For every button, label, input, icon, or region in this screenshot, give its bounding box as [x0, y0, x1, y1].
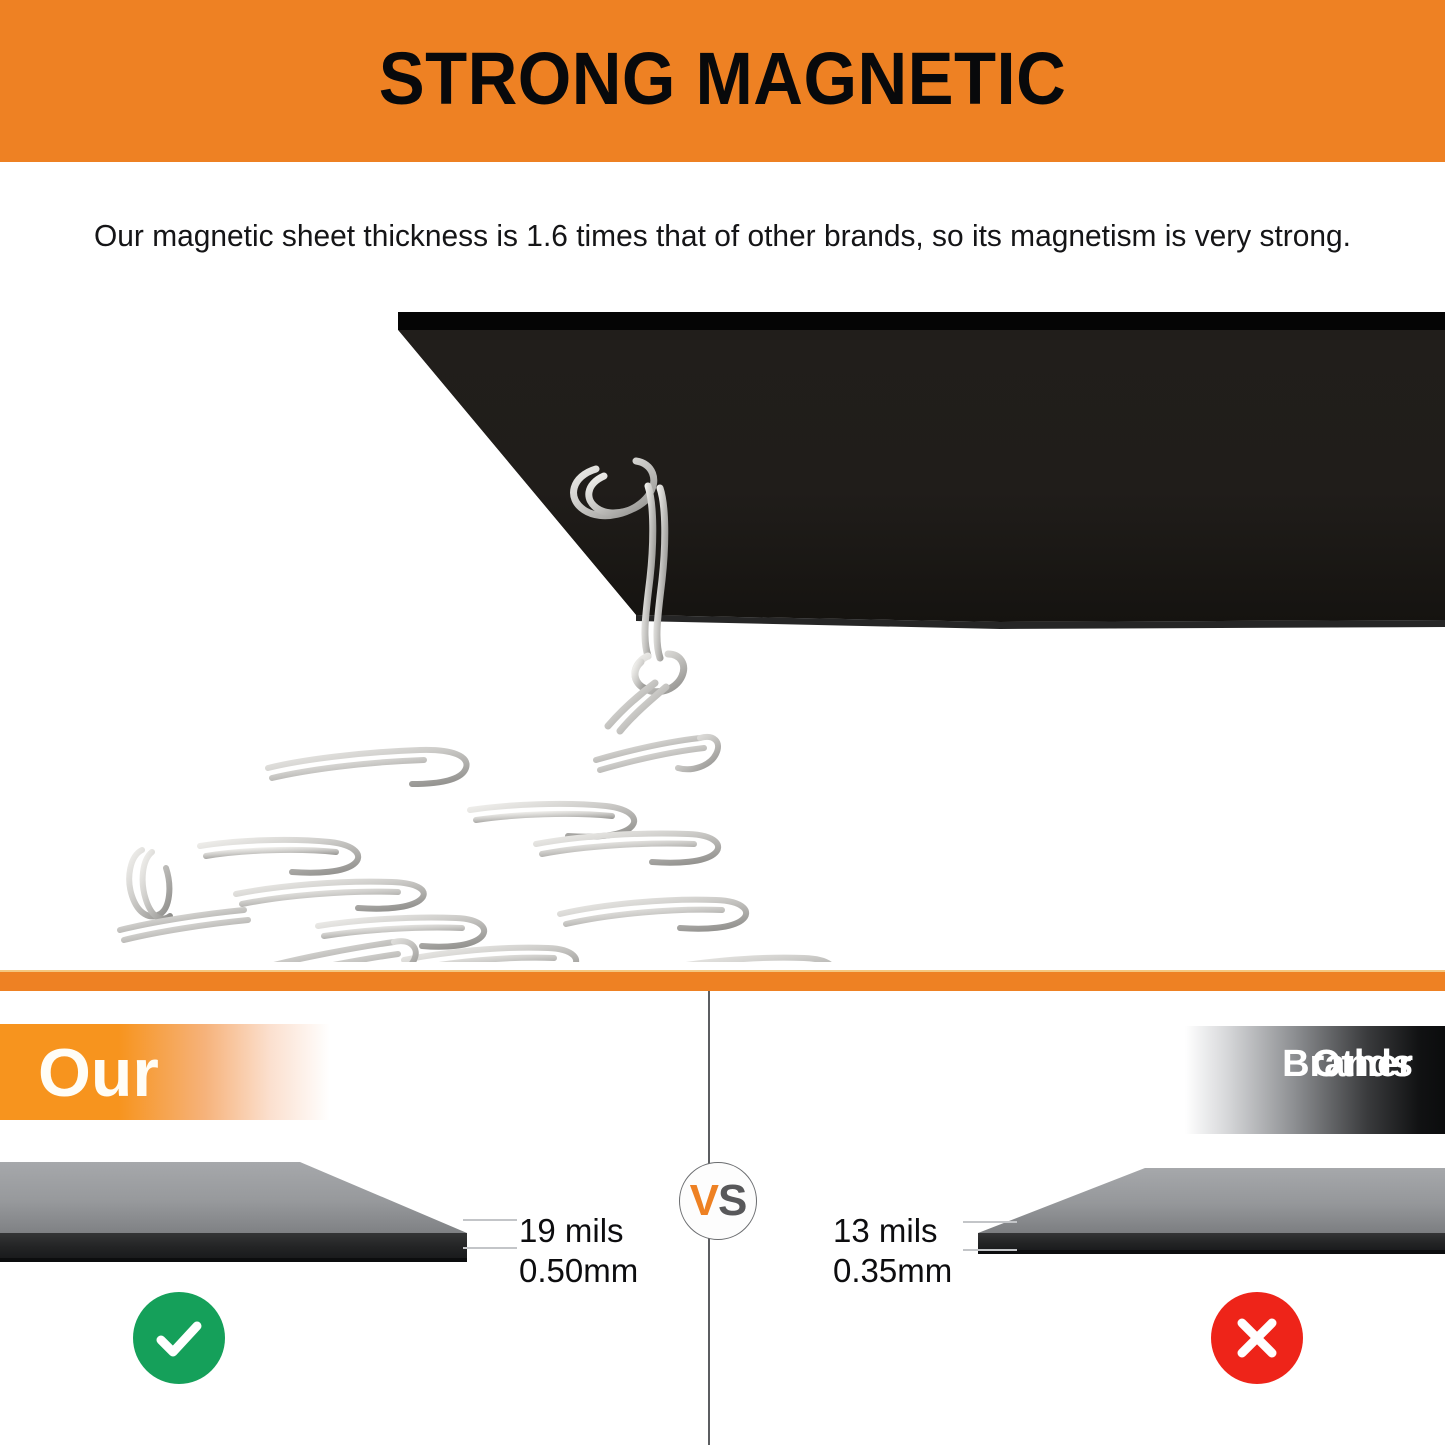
our-brand-ribbon: Our	[0, 1024, 330, 1120]
product-infographic: STRONG MAGNETIC Our magnetic sheet thick…	[0, 0, 1445, 1445]
paperclip-pile	[120, 737, 834, 962]
other-brands-label-line2: Brands	[1282, 1042, 1413, 1087]
hero-illustration	[0, 290, 1445, 962]
our-dimension-ticks	[463, 1213, 517, 1253]
other-thickness-mm: 0.35mm	[833, 1251, 952, 1291]
our-brand-label: Our	[38, 1037, 159, 1109]
our-sheet-thickness-illustration	[0, 1148, 482, 1273]
other-sheet-thickness-illustration	[978, 1154, 1445, 1274]
check-icon	[150, 1309, 208, 1367]
section-divider	[0, 972, 1445, 991]
rejected-badge	[1211, 1292, 1303, 1384]
our-thickness-mils: 19 mils	[519, 1211, 638, 1251]
header-banner: STRONG MAGNETIC	[0, 0, 1445, 162]
other-brands-ribbon: Other Brands	[1185, 1026, 1445, 1134]
our-thickness-mm: 0.50mm	[519, 1251, 638, 1291]
subtitle-text: Our magnetic sheet thickness is 1.6 time…	[25, 217, 1419, 255]
close-icon	[1231, 1312, 1283, 1364]
page-title: STRONG MAGNETIC	[51, 36, 1395, 122]
other-dimension-ticks	[963, 1215, 1017, 1255]
vs-letter-s: S	[718, 1179, 746, 1223]
vs-letter-v: V	[690, 1179, 718, 1223]
other-thickness-mils: 13 mils	[833, 1211, 952, 1251]
magnet-and-paperclips-graphic	[0, 290, 1445, 962]
other-thickness-callout: 13 mils 0.35mm	[833, 1211, 952, 1291]
approved-badge	[133, 1292, 225, 1384]
vs-badge: VS	[679, 1162, 757, 1240]
our-thickness-callout: 19 mils 0.50mm	[519, 1211, 638, 1291]
magnetic-sheet	[398, 312, 1445, 629]
